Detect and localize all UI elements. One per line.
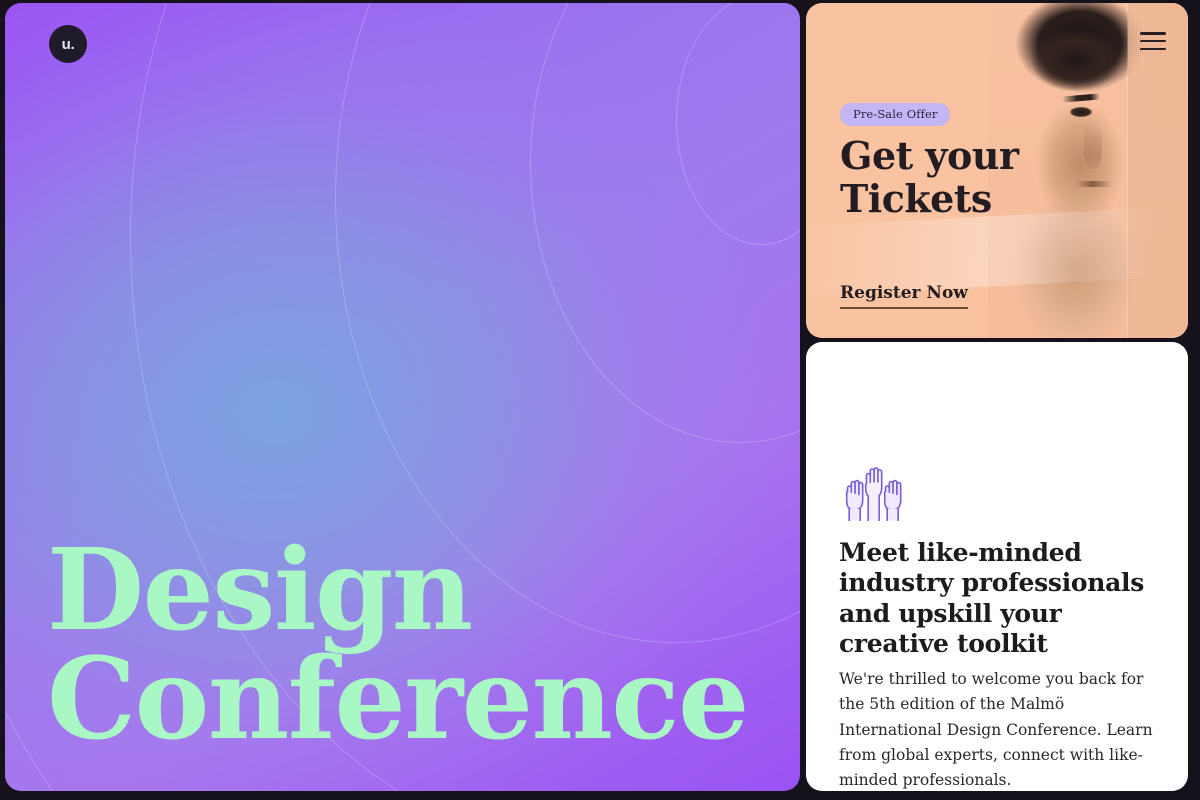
page-title-line-1: Design [47, 536, 760, 646]
hamburger-menu-icon[interactable] [1140, 32, 1166, 50]
tickets-heading: Get your Tickets [840, 135, 1019, 220]
hamburger-bar-1 [1140, 32, 1166, 35]
portrait-mouth [1076, 181, 1112, 187]
raised-hands-icon [839, 465, 907, 521]
ring-2 [530, 3, 800, 443]
hero-panel: u. Design Conference [5, 3, 800, 791]
tickets-heading-line-1: Get your [840, 135, 1019, 178]
brand-logo-text: u. [62, 36, 75, 53]
hamburger-bar-2 [1140, 40, 1166, 43]
info-heading: Meet like-minded industry professionals … [839, 538, 1164, 659]
portrait-nose [1084, 123, 1102, 169]
info-body-text: We're thrilled to welcome you back for t… [839, 667, 1162, 791]
page-title: Design Conference [47, 536, 760, 756]
page-root: u. Design Conference Pre-Sale Offer Get … [0, 0, 1200, 800]
portrait-eye [1070, 107, 1092, 117]
status-badge[interactable]: Pre-Sale Offer [840, 103, 950, 126]
register-now-link[interactable]: Register Now [840, 283, 968, 309]
tickets-heading-line-2: Tickets [840, 178, 1019, 221]
tickets-card: Pre-Sale Offer Get your Tickets Register… [806, 3, 1188, 338]
info-card: Meet like-minded industry professionals … [806, 342, 1188, 791]
ring-1 [676, 3, 800, 245]
brand-logo[interactable]: u. [49, 25, 87, 63]
portrait-halftone-overlay [1128, 3, 1188, 338]
page-title-line-2: Conference [47, 645, 760, 755]
hamburger-bar-3 [1140, 48, 1166, 51]
